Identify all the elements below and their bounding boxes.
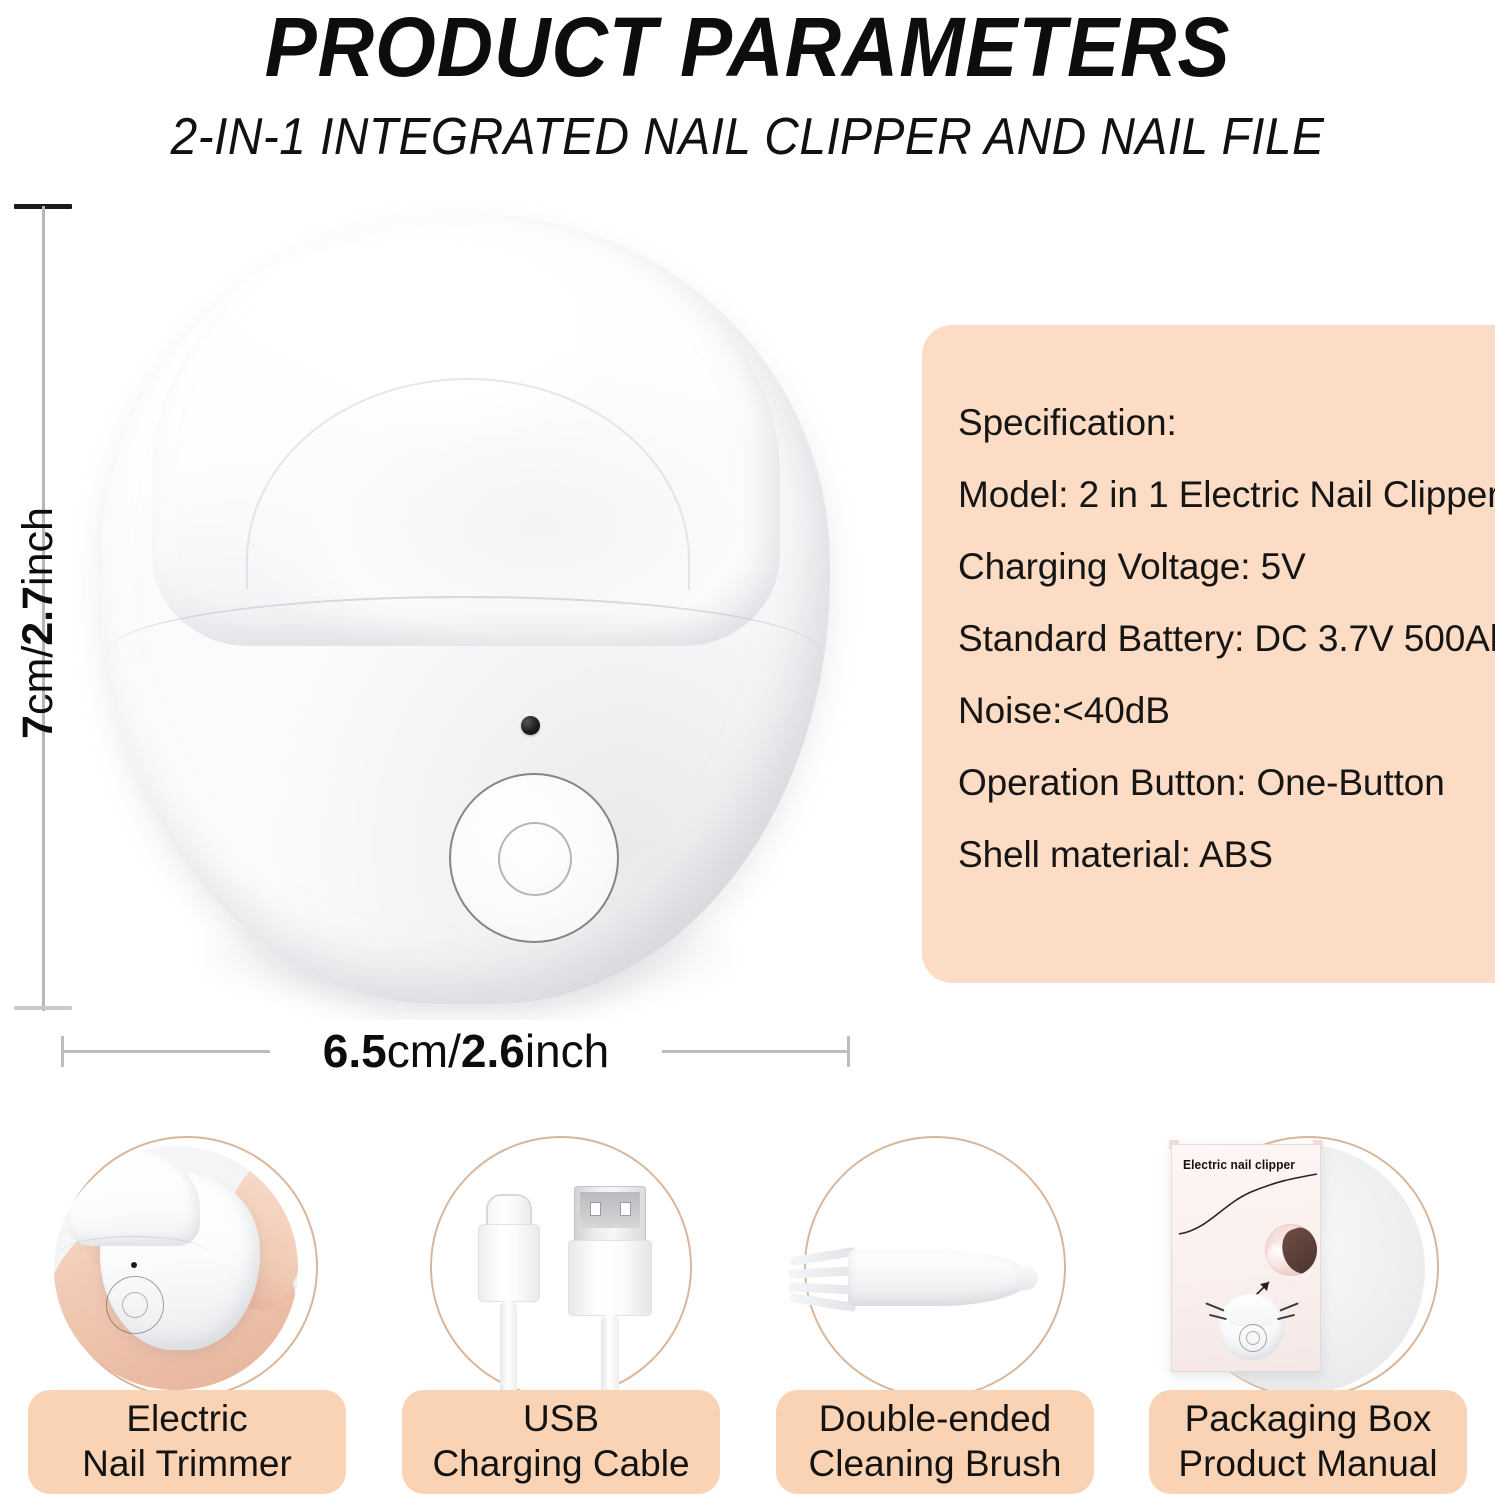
height-dimension-label: 7cm/2.7inch <box>15 493 61 753</box>
spec-line: Noise:<40dB <box>958 675 1495 747</box>
accessory-item: Electric nail clipper <box>1121 1128 1495 1495</box>
device-gloss-highlight <box>228 240 558 390</box>
height-unit-cm: cm/ <box>14 646 62 715</box>
box-inset-photo <box>1265 1224 1317 1276</box>
width-dimension-label: 6.5cm/2.6inch <box>270 1020 662 1082</box>
accessory-label-pill: USB Charging Cable <box>402 1390 720 1494</box>
accessory-label-line2: Charging Cable <box>432 1441 689 1486</box>
brush-handle <box>848 1250 1030 1306</box>
width-value-inch: 2.6 <box>461 1025 525 1077</box>
hand-photo-circle <box>54 1146 298 1390</box>
held-device-led-icon <box>131 1262 137 1268</box>
packaging-box-icon: Electric nail clipper <box>1121 1128 1495 1418</box>
accessory-label-pill: Double-ended Cleaning Brush <box>776 1390 1094 1494</box>
width-dimension-cap-right <box>847 1036 850 1067</box>
spec-line: Charging Voltage: 5V <box>958 531 1495 603</box>
width-unit-inch: inch <box>525 1025 609 1077</box>
accessory-item: Double-ended Cleaning Brush <box>748 1128 1122 1495</box>
accessory-label-line1: Double-ended <box>819 1396 1051 1441</box>
spec-line: Model: 2 in 1 Electric Nail Clipper <box>958 459 1495 531</box>
height-value-inch: 2.7 <box>14 586 62 646</box>
accessory-label-line1: Packaging Box <box>1185 1396 1432 1441</box>
accessory-label-line2: Cleaning Brush <box>809 1441 1062 1486</box>
usb-a-pin <box>620 1202 631 1216</box>
accessory-label-line2: Product Manual <box>1178 1441 1437 1486</box>
accessory-label-line1: USB <box>523 1396 599 1441</box>
accessory-item: USB Charging Cable <box>374 1128 748 1495</box>
accessories-row: Electric Nail Trimmer USB Charging Cable <box>0 1128 1495 1495</box>
usb-a-connector-body <box>568 1240 652 1316</box>
brush-bristle <box>790 1247 857 1266</box>
cleaning-brush-icon <box>748 1128 1122 1418</box>
height-dimension-cap-bottom <box>14 1006 72 1010</box>
spec-line: Standard Battery: DC 3.7V 500Ah <box>958 603 1495 675</box>
height-unit-inch: inch <box>14 507 62 586</box>
accessory-label-pill: Packaging Box Product Manual <box>1149 1390 1467 1494</box>
spec-line: Operation Button: One-Button <box>958 747 1495 819</box>
usb-c-connector-body <box>478 1224 540 1302</box>
box-illustration-device-lid <box>1229 1296 1275 1326</box>
brush-tapered-tip <box>1016 1266 1038 1290</box>
width-value-cm: 6.5 <box>323 1025 387 1077</box>
spec-line: Specification: <box>958 387 1495 459</box>
page-subtitle: 2-IN-1 INTEGRATED NAIL CLIPPER AND NAIL … <box>60 108 1435 166</box>
product-parameters-infographic: PRODUCT PARAMETERS 2-IN-1 INTEGRATED NAI… <box>0 0 1495 1495</box>
usb-a-pin <box>590 1202 601 1216</box>
accessory-item: Electric Nail Trimmer <box>0 1128 374 1495</box>
main-product-image <box>78 196 868 1026</box>
brush-bristle <box>790 1293 857 1312</box>
usb-a-slot <box>580 1192 640 1228</box>
specification-list: Specification: Model: 2 in 1 Electric Na… <box>958 387 1495 891</box>
accessory-label-pill: Electric Nail Trimmer <box>28 1390 346 1494</box>
height-value-cm: 7 <box>14 715 62 739</box>
spec-line: Shell material: ABS <box>958 819 1495 891</box>
specification-panel: Specification: Model: 2 in 1 Electric Na… <box>922 325 1495 983</box>
width-unit-cm: cm/ <box>387 1025 461 1077</box>
held-device-button-inner <box>122 1292 148 1318</box>
usb-c-connector-tip <box>486 1194 532 1226</box>
box-illustration-button-inner <box>1246 1331 1260 1345</box>
power-button-inner-ring <box>498 822 572 896</box>
page-title: PRODUCT PARAMETERS <box>52 2 1442 92</box>
accessory-label-line1: Electric <box>126 1396 247 1441</box>
usb-cable-icon <box>374 1128 748 1418</box>
electric-nail-trimmer-in-hand-icon <box>0 1128 374 1418</box>
led-indicator-icon <box>521 716 540 735</box>
accessory-label-line2: Nail Trimmer <box>82 1441 292 1486</box>
